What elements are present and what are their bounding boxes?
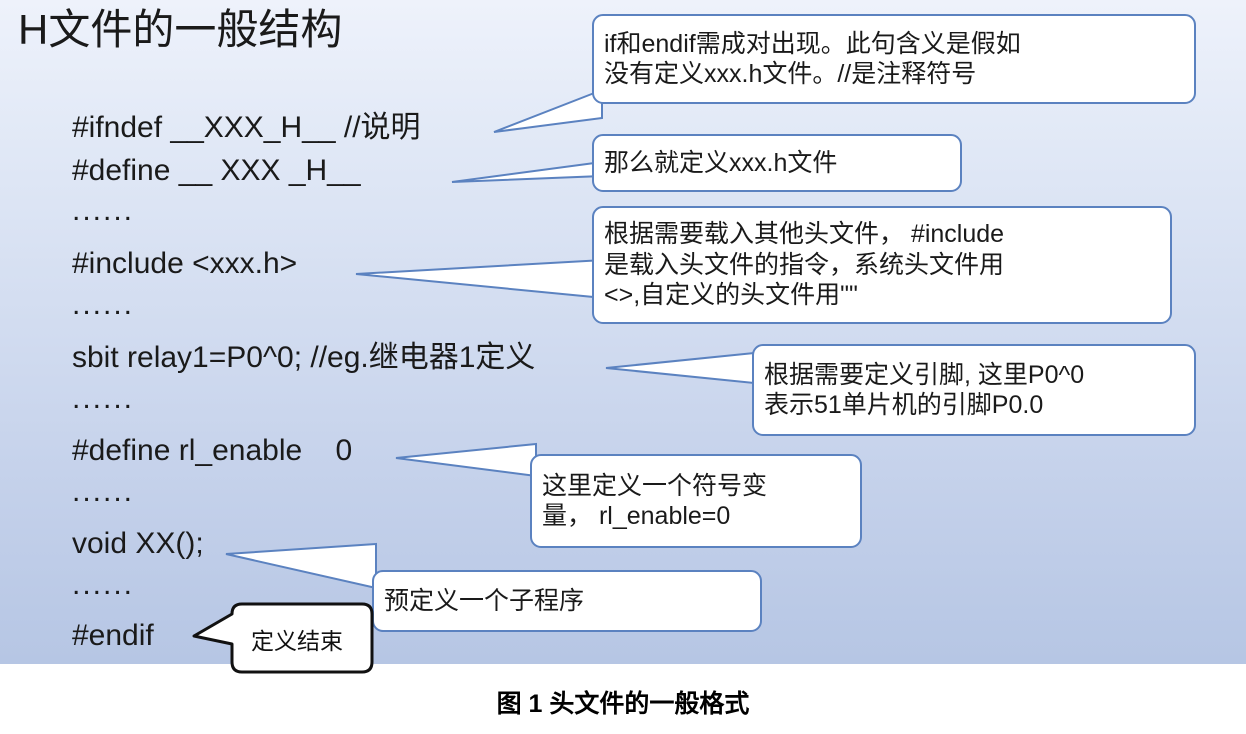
callout-tail-define-rl bbox=[396, 440, 538, 480]
callout-void-note[interactable]: 预定义一个子程序 bbox=[372, 570, 762, 632]
code-line-dots-3: ...... bbox=[72, 383, 134, 415]
code-line-dots-1: ...... bbox=[72, 195, 134, 227]
callout-define-note[interactable]: 那么就定义xxx.h文件 bbox=[592, 134, 962, 192]
page-title: H文件的一般结构 bbox=[18, 6, 342, 54]
callout-tail-void bbox=[226, 540, 378, 592]
code-line-dots-2: ...... bbox=[72, 289, 134, 321]
callout-ifndef-note-text: if和endif需成对出现。此句含义是假如 没有定义xxx.h文件。//是注释符… bbox=[594, 29, 1031, 90]
callout-tail-include bbox=[356, 258, 606, 300]
code-line-define-guard: #define __ XXX _H__ bbox=[72, 155, 361, 187]
callout-include-note-text: 根据需要载入其他头文件， #include 是载入头文件的指令，系统头文件用 <… bbox=[594, 219, 1014, 311]
code-line-include: #include <xxx.h> bbox=[72, 248, 297, 280]
code-line-dots-4: ...... bbox=[72, 476, 134, 508]
callout-include-note[interactable]: 根据需要载入其他头文件， #include 是载入头文件的指令，系统头文件用 <… bbox=[592, 206, 1172, 324]
callout-void-note-text: 预定义一个子程序 bbox=[374, 586, 594, 617]
code-line-void-xx: void XX(); bbox=[72, 528, 204, 560]
figure-caption: 图 1 头文件的一般格式 bbox=[0, 684, 1246, 720]
callout-ifndef-note[interactable]: if和endif需成对出现。此句含义是假如 没有定义xxx.h文件。//是注释符… bbox=[592, 14, 1196, 104]
callout-tail-sbit bbox=[606, 348, 766, 388]
callout-endif-note[interactable]: 定义结束 bbox=[190, 600, 376, 678]
code-line-dots-5: ...... bbox=[72, 569, 134, 601]
callout-define-note-text: 那么就定义xxx.h文件 bbox=[594, 148, 847, 179]
callout-define-rl-note[interactable]: 这里定义一个符号变 量， rl_enable=0 bbox=[530, 454, 862, 548]
code-line-ifndef: #ifndef __XXX_H__ //说明 bbox=[72, 112, 421, 144]
callout-tail-define bbox=[452, 160, 604, 188]
slide-panel: H文件的一般结构 #ifndef __XXX_H__ //说明 #define … bbox=[0, 0, 1246, 664]
code-line-define-rl: #define rl_enable 0 bbox=[72, 435, 352, 467]
callout-endif-note-text: 定义结束 bbox=[238, 622, 356, 656]
callout-define-rl-note-text: 这里定义一个符号变 量， rl_enable=0 bbox=[532, 471, 777, 532]
code-line-sbit: sbit relay1=P0^0; //eg.继电器1定义 bbox=[72, 342, 535, 374]
callout-sbit-note[interactable]: 根据需要定义引脚, 这里P0^0 表示51单片机的引脚P0.0 bbox=[752, 344, 1196, 436]
callout-sbit-note-text: 根据需要定义引脚, 这里P0^0 表示51单片机的引脚P0.0 bbox=[754, 360, 1094, 421]
callout-tail-ifndef bbox=[494, 88, 604, 140]
code-line-endif: #endif bbox=[72, 620, 154, 652]
